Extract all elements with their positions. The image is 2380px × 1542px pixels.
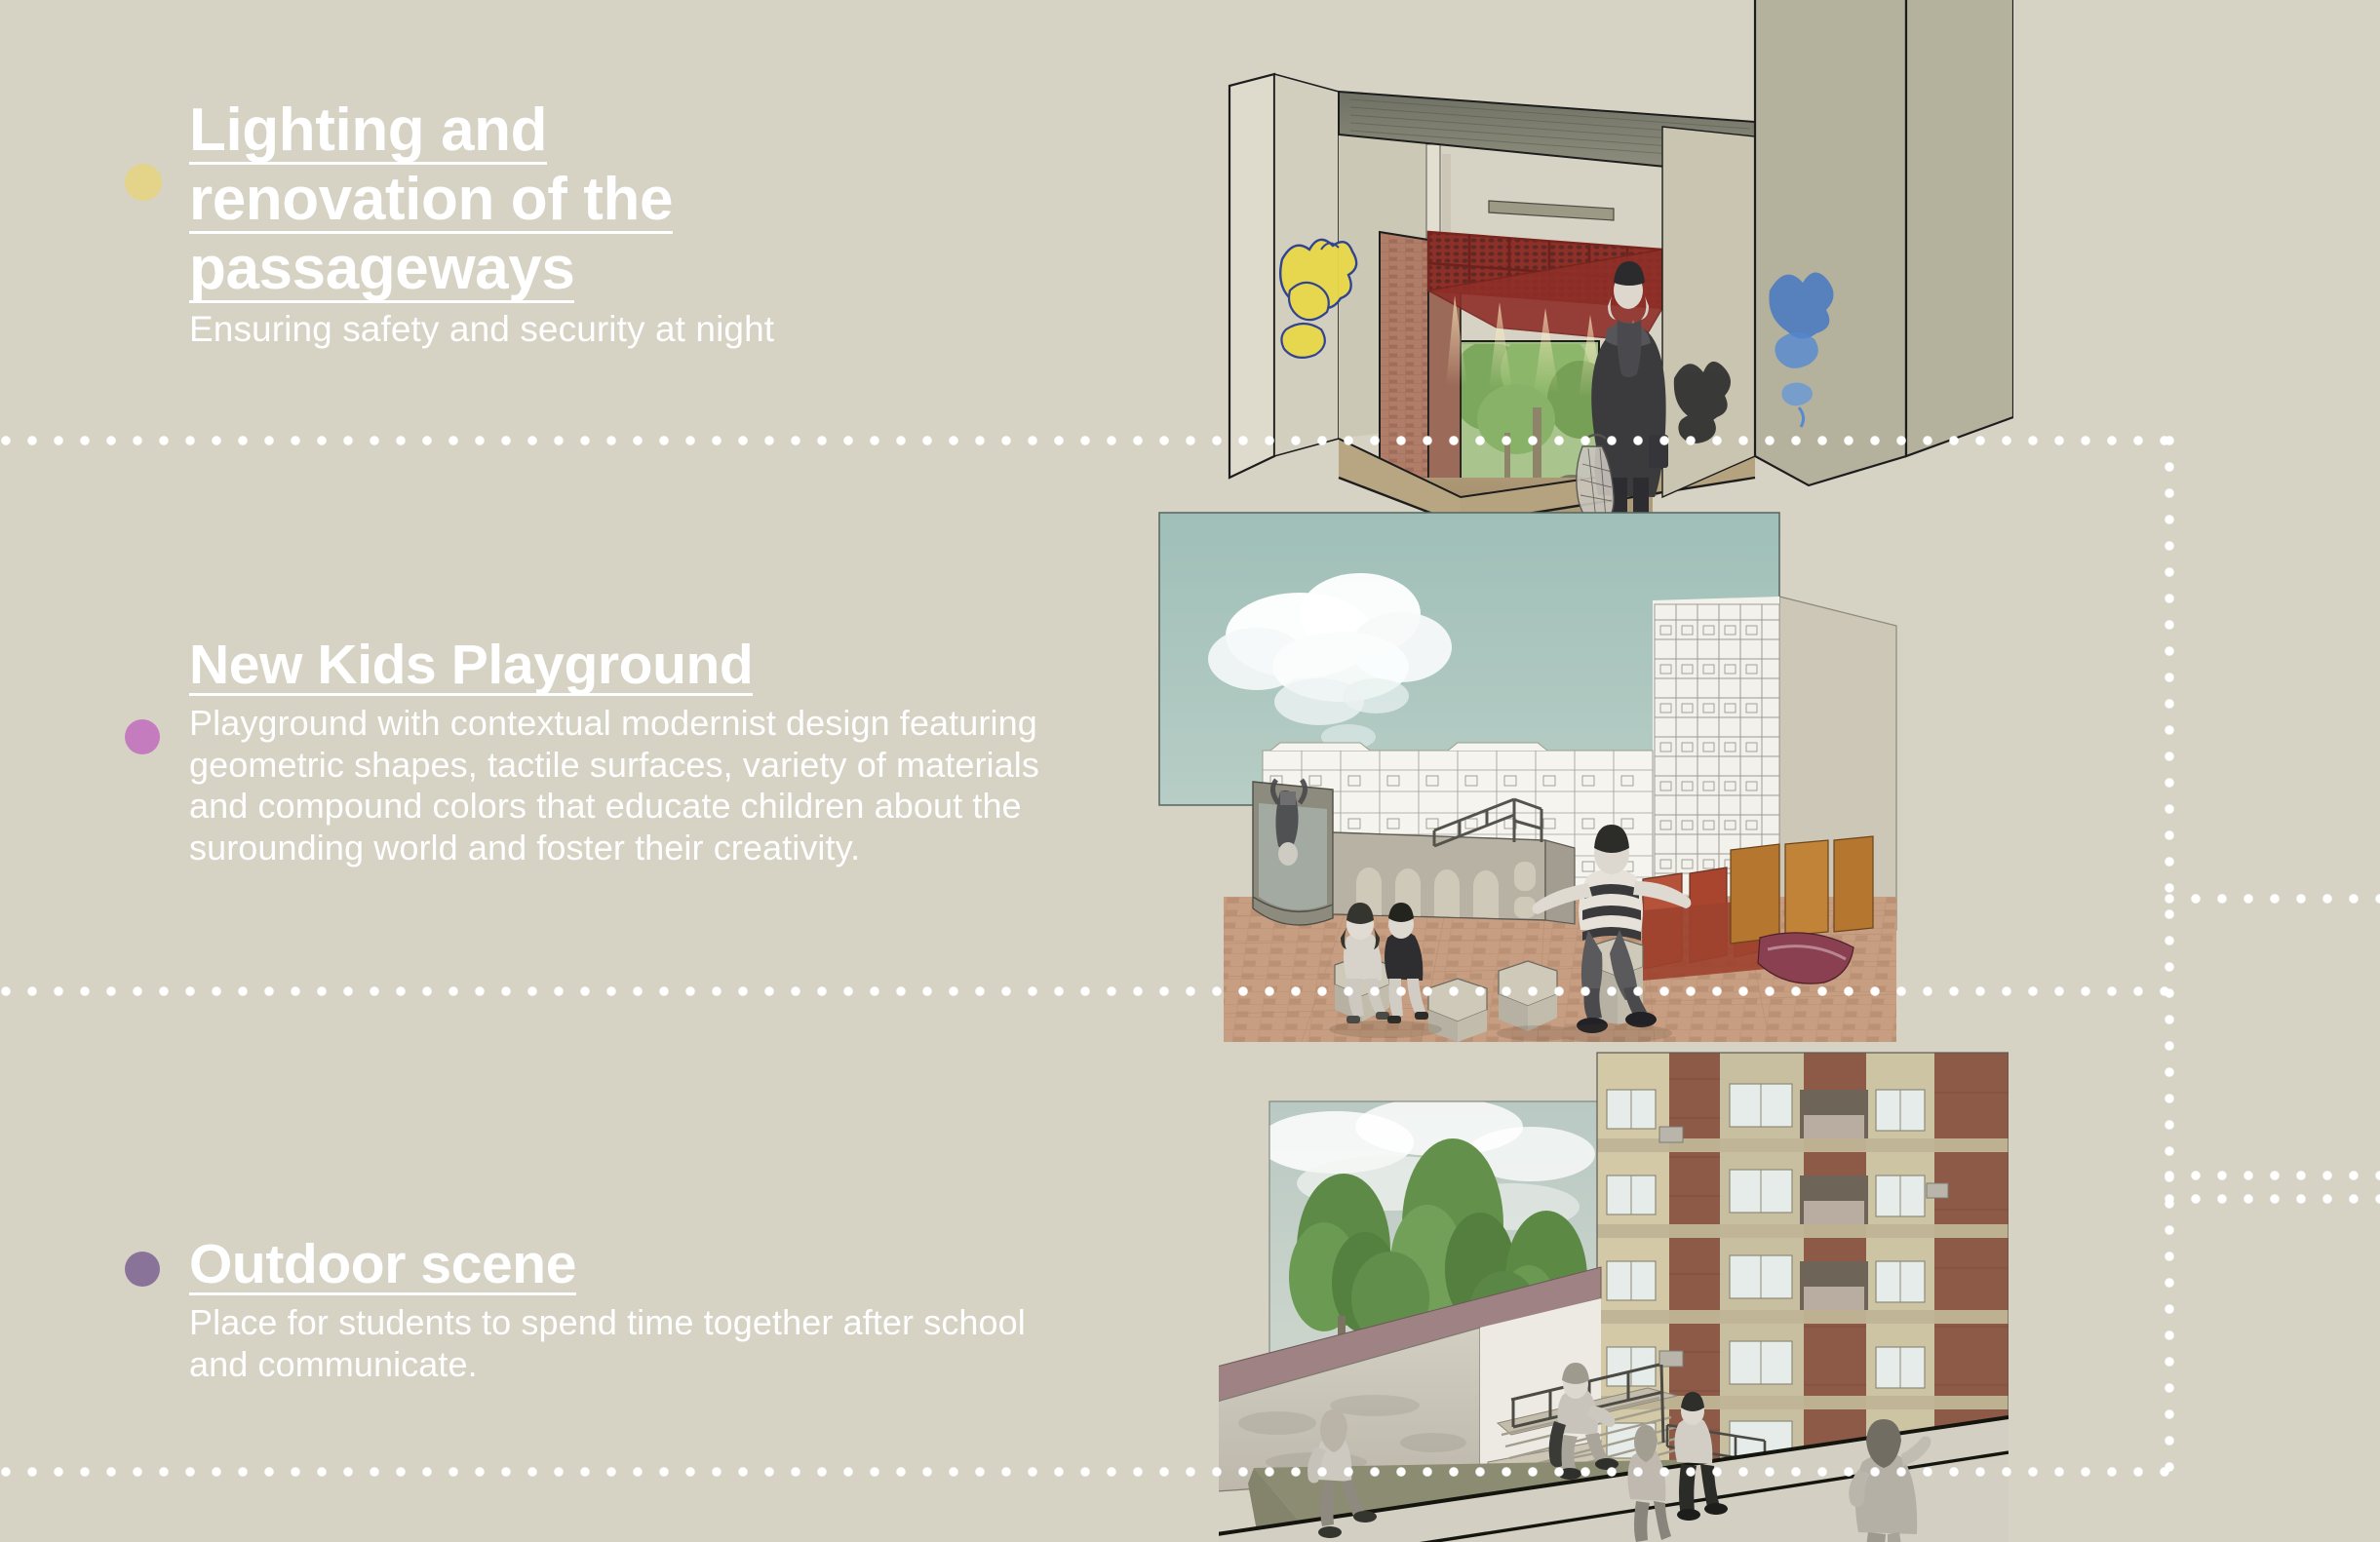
block-text: Lighting and renovation of the passagewa…	[189, 102, 774, 350]
block-title: Outdoor scene	[189, 1238, 1080, 1295]
bullet-purple	[125, 1252, 160, 1287]
text-column: Lighting and renovation of the passagewa…	[0, 0, 1151, 1542]
title-line: Lighting and	[189, 102, 547, 165]
bullet-yellow	[125, 164, 162, 201]
dotline-right-branch-upper	[2164, 893, 2380, 905]
bullet-magenta	[125, 719, 160, 754]
block-title: New Kids Playground	[189, 638, 1100, 696]
content-block-outdoor: Outdoor scene Place for students to spen…	[125, 1238, 1080, 1385]
title-line: Outdoor scene	[189, 1238, 576, 1295]
presentation-slide: REBS	[0, 0, 2380, 1542]
outdoor-scene-render	[1219, 1033, 2009, 1542]
passageway-render: REBS	[1224, 0, 2013, 539]
block-title: Lighting and renovation of the passagewa…	[189, 102, 774, 303]
dotline-right-branch-lower	[2164, 1170, 2380, 1181]
block-subtitle: Ensuring safety and security at night	[189, 308, 774, 351]
block-text: Outdoor scene Place for students to spen…	[189, 1238, 1080, 1385]
block-text: New Kids Playground Playground with cont…	[189, 638, 1100, 868]
title-line: renovation of the	[189, 172, 673, 234]
dotline-right-branch-lower2	[2164, 1193, 2380, 1205]
playground-render	[1155, 511, 1945, 1042]
title-line: passageways	[189, 241, 574, 303]
title-line: New Kids Playground	[189, 638, 753, 696]
content-block-lighting: Lighting and renovation of the passagewa…	[125, 102, 1080, 350]
block-subtitle: Place for students to spend time togethe…	[189, 1302, 1080, 1385]
content-block-playground: New Kids Playground Playground with cont…	[125, 638, 1100, 868]
block-subtitle: Playground with contextual modernist des…	[189, 703, 1100, 868]
dotline-right-vertical	[2164, 435, 2175, 1478]
mirror-panel	[1253, 780, 1333, 925]
